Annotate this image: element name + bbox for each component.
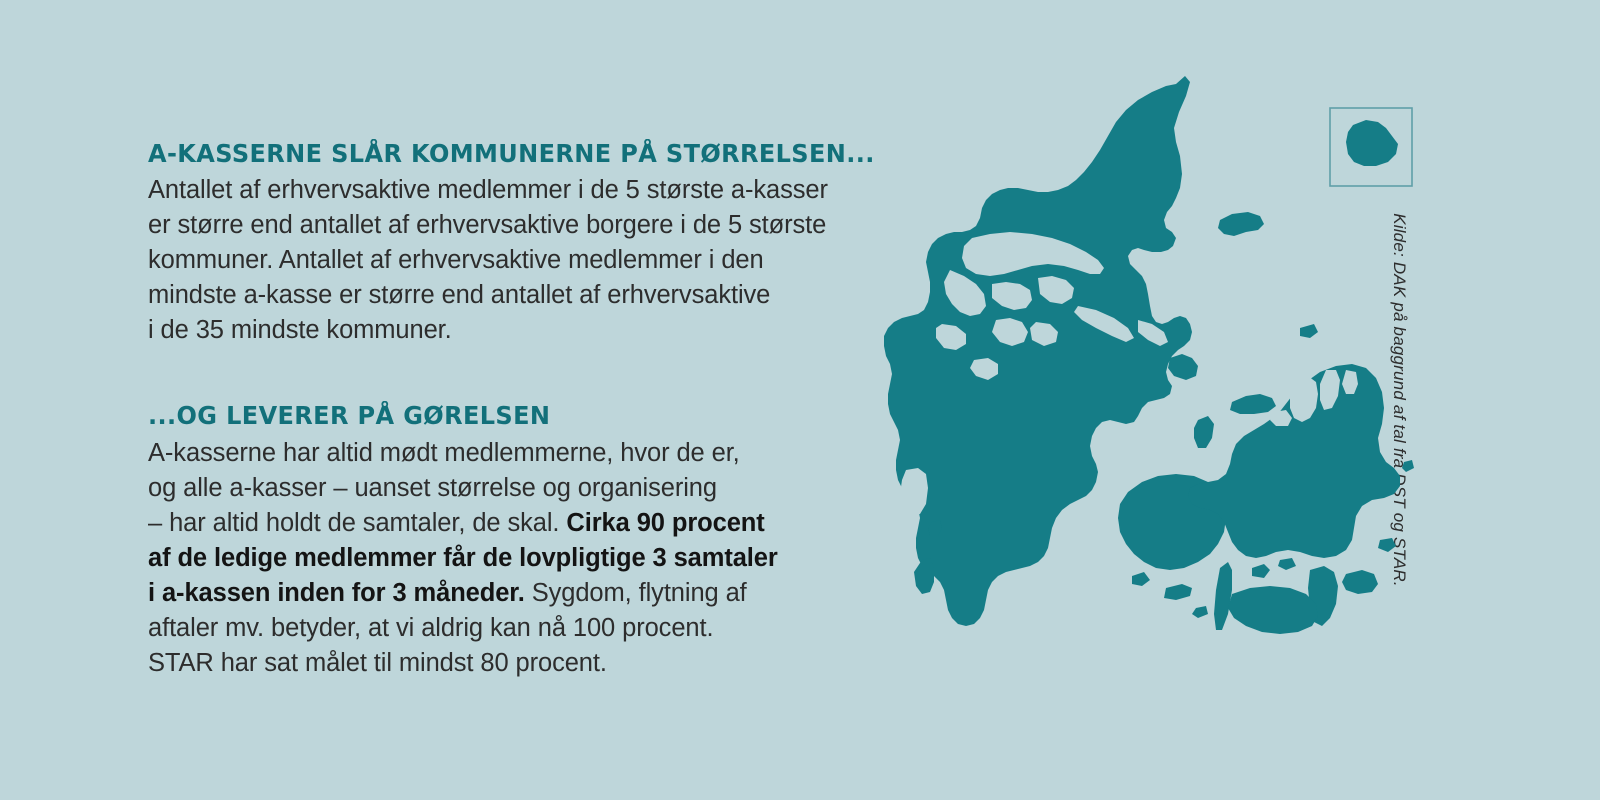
body-line: af de ledige medlemmer får de lovpligtig… (148, 541, 908, 576)
body-line: STAR har sat målet til mindst 80 procent… (148, 646, 908, 681)
smaland-isle-c (1378, 538, 1396, 552)
body-line: i a-kassen inden for 3 måneder. Sygdom, … (148, 576, 908, 611)
text-column: A-KASSERNE SLÅR KOMMUNERNE PÅ STØRRELSEN… (148, 138, 908, 681)
body-text-regular: – har altid holdt de samtaler, de skal. (148, 509, 566, 537)
wadden-island (914, 558, 934, 594)
body-line: A-kasserne har altid mødt medlemmerne, h… (148, 436, 908, 471)
body-line: er større end antallet af erhvervsaktive… (148, 208, 908, 243)
small-isle-a (1132, 572, 1150, 586)
mon-island (1342, 570, 1378, 594)
body-text-regular: STAR har sat målet til mindst 80 procent… (148, 649, 607, 677)
body-text-regular: Sygdom, flytning af (525, 579, 747, 607)
section-storrelsen: A-KASSERNE SLÅR KOMMUNERNE PÅ STØRRELSEN… (148, 138, 908, 348)
body-line: i de 35 mindste kommuner. (148, 313, 908, 348)
body-text-bold: Cirka 90 procent (566, 509, 764, 537)
lolland-island (1228, 586, 1318, 634)
body-text-regular: og alle a-kasser – uanset størrelse og o… (148, 474, 717, 502)
body-line: og alle a-kasser – uanset størrelse og o… (148, 471, 908, 506)
body-line: mindste a-kasse er større end antallet a… (148, 278, 908, 313)
section-gorelsen: ...OG LEVERER PÅ GØRELSEN A-kasserne har… (148, 400, 908, 680)
section-heading-gorelsen: ...OG LEVERER PÅ GØRELSEN (148, 400, 878, 431)
tiny-isle-east (1402, 460, 1414, 472)
section-body-storrelsen: Antallet af erhvervsaktive medlemmer i d… (148, 173, 908, 348)
body-text-bold: i a-kassen inden for 3 måneder. (148, 579, 525, 607)
aero-island (1164, 584, 1192, 600)
body-line: Antallet af erhvervsaktive medlemmer i d… (148, 173, 908, 208)
body-text-bold: af de ledige medlemmer får de lovpligtig… (148, 544, 778, 572)
anholt-island (1300, 324, 1318, 338)
body-line: – har altid holdt de samtaler, de skal. … (148, 506, 908, 541)
body-line: aftaler mv. betyder, at vi aldrig kan nå… (148, 611, 908, 646)
body-line: kommuner. Antallet af erhvervsaktive med… (148, 243, 908, 278)
small-isle-b (1192, 606, 1208, 618)
langeland-island (1214, 562, 1232, 630)
body-text-regular: A-kasserne har altid mødt medlemmerne, h… (148, 439, 740, 467)
body-text-regular: aftaler mv. betyder, at vi aldrig kan nå… (148, 614, 713, 642)
infographic-canvas: A-KASSERNE SLÅR KOMMUNERNE PÅ STØRRELSEN… (0, 0, 1600, 800)
denmark-map (880, 70, 1480, 710)
section-body-gorelsen: A-kasserne har altid mødt medlemmerne, h… (148, 436, 908, 681)
laeso-island (1218, 212, 1264, 236)
smaland-isle-a (1252, 564, 1270, 578)
bornholm-island (1346, 120, 1398, 166)
samso-island (1194, 416, 1214, 448)
section-heading-storrelsen: A-KASSERNE SLÅR KOMMUNERNE PÅ STØRRELSEN… (148, 138, 878, 169)
djursland (1168, 354, 1198, 380)
odsherred-peninsula (1230, 394, 1276, 414)
smaland-isle-b (1278, 558, 1296, 570)
